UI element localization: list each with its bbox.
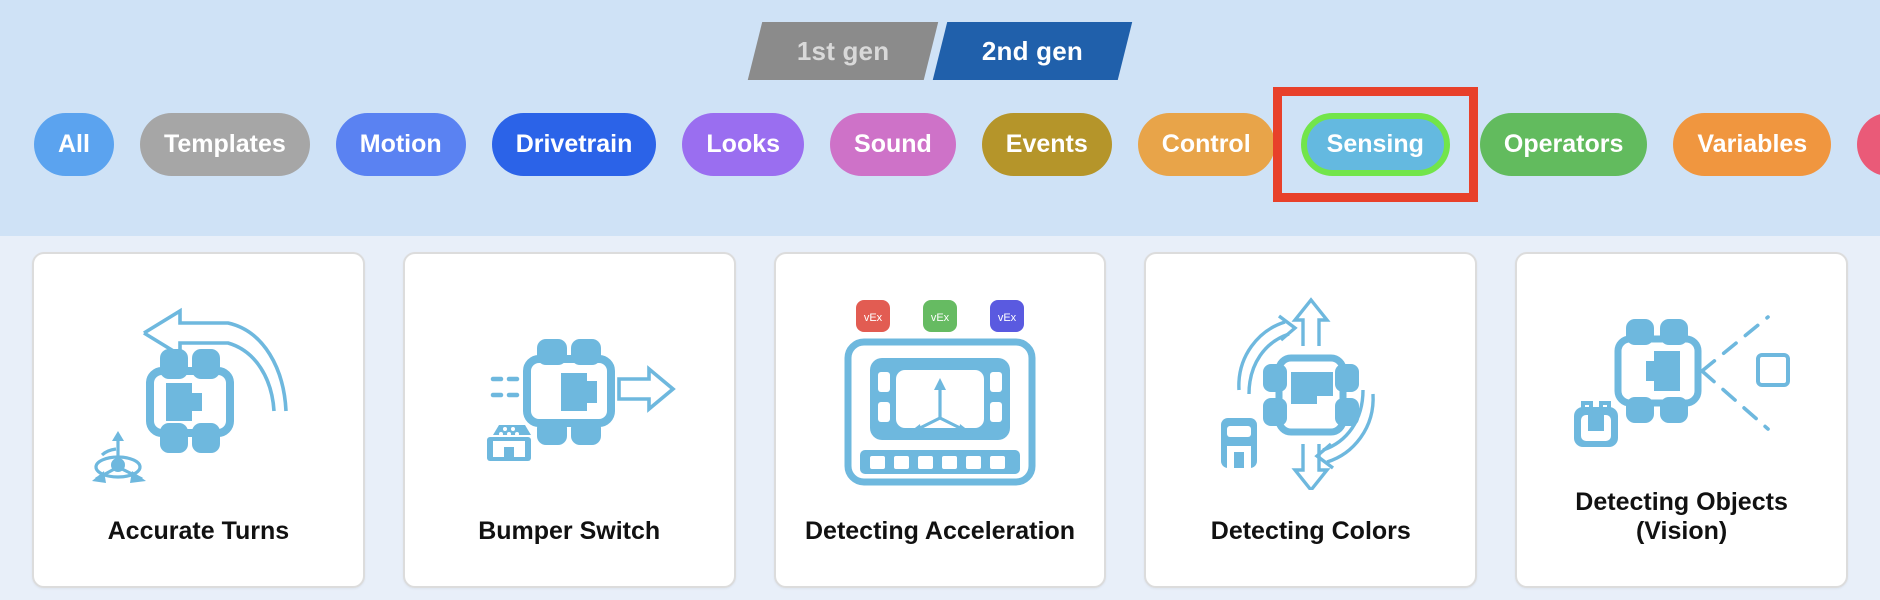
category-pill-all[interactable]: All: [34, 113, 114, 176]
card-title-line1: Detecting Objects: [1575, 488, 1788, 516]
category-wrap-control: Control: [1138, 113, 1275, 176]
category-filter-bar: All Templates Motion Drivetrain Looks: [0, 113, 1880, 176]
card-art-detecting-acceleration: vEx vEx vEx: [776, 260, 1105, 517]
card-art-accurate-turns: [34, 260, 363, 517]
card-title-accurate-turns: Accurate Turns: [98, 517, 300, 586]
tutorial-card-detecting-objects-vision[interactable]: Detecting Objects (Vision): [1515, 252, 1848, 588]
category-pill-templates[interactable]: Templates: [140, 113, 310, 176]
category-pill-looks[interactable]: Looks: [682, 113, 804, 176]
category-pill-operators-label: Operators: [1504, 130, 1623, 159]
category-pill-sensing[interactable]: Sensing: [1301, 113, 1450, 176]
tab-2nd-gen-label: 2nd gen: [982, 36, 1083, 67]
vexcode-tutorial-browser: 1st gen 2nd gen All Templates Motion Dri…: [0, 0, 1880, 600]
category-pill-all-label: All: [58, 130, 90, 159]
category-pill-my-blocks[interactable]: My Blocks: [1857, 113, 1880, 176]
category-wrap-drivetrain: Drivetrain: [492, 113, 657, 176]
category-wrap-my-blocks: My Blocks: [1857, 113, 1880, 176]
category-pill-motion-label: Motion: [360, 130, 442, 159]
category-pill-variables[interactable]: Variables: [1673, 113, 1831, 176]
category-pill-control[interactable]: Control: [1138, 113, 1275, 176]
category-pill-drivetrain-label: Drivetrain: [516, 130, 633, 159]
card-art-detecting-colors: [1146, 260, 1475, 517]
tutorial-card-bumper-switch[interactable]: Bumper Switch: [403, 252, 736, 588]
category-pill-events-label: Events: [1006, 130, 1088, 159]
vex-badge-green: vEx: [923, 300, 957, 332]
tutorial-card-grid: Accurate Turns: [0, 252, 1880, 592]
card-title-line1: Accurate Turns: [108, 517, 290, 545]
robot-bumper-wall-icon: [449, 297, 689, 487]
tab-1st-gen-label: 1st gen: [797, 36, 889, 67]
category-pill-motion[interactable]: Motion: [336, 113, 466, 176]
svg-text:vEx: vEx: [864, 312, 883, 324]
category-pill-operators[interactable]: Operators: [1480, 113, 1647, 176]
robot-vision-cone-icon: [1562, 289, 1802, 465]
card-art-bumper-switch: [405, 260, 734, 517]
category-pill-events[interactable]: Events: [982, 113, 1112, 176]
card-title-line1: Bumper Switch: [478, 517, 660, 545]
vex-badge-blue: vEx: [990, 300, 1024, 332]
category-wrap-sensing: Sensing: [1301, 113, 1450, 176]
card-title-detecting-objects-vision: Detecting Objects (Vision): [1565, 488, 1798, 586]
tab-2nd-gen[interactable]: 2nd gen: [932, 22, 1132, 80]
category-wrap-all: All: [34, 113, 114, 176]
card-title-bumper-switch: Bumper Switch: [468, 517, 670, 586]
category-wrap-templates: Templates: [140, 113, 310, 176]
category-wrap-motion: Motion: [336, 113, 466, 176]
robot-rotate-arrows-icon: [1203, 294, 1418, 490]
card-title-detecting-colors: Detecting Colors: [1201, 517, 1421, 586]
card-art-detecting-objects-vision: [1517, 260, 1846, 488]
tab-1st-gen[interactable]: 1st gen: [748, 22, 939, 80]
category-wrap-operators: Operators: [1480, 113, 1647, 176]
card-title-line1: Detecting Colors: [1211, 517, 1411, 545]
tutorial-card-detecting-colors[interactable]: Detecting Colors: [1144, 252, 1477, 588]
card-title-line2: (Vision): [1575, 517, 1788, 546]
category-wrap-variables: Variables: [1673, 113, 1831, 176]
category-pill-sensing-label: Sensing: [1327, 130, 1424, 159]
svg-text:vEx: vEx: [931, 312, 950, 324]
category-pill-looks-label: Looks: [706, 130, 780, 159]
category-pill-drivetrain[interactable]: Drivetrain: [492, 113, 657, 176]
vex-badge-red: vEx: [856, 300, 890, 332]
category-pill-variables-label: Variables: [1697, 130, 1807, 159]
tutorial-card-accurate-turns[interactable]: Accurate Turns: [32, 252, 365, 588]
robot-turn-arrow-icon: [88, 297, 308, 487]
category-wrap-looks: Looks: [682, 113, 804, 176]
category-pill-sound-label: Sound: [854, 130, 932, 159]
category-pill-templates-label: Templates: [164, 130, 286, 159]
svg-text:vEx: vEx: [998, 312, 1017, 324]
vex-brain-axes-icon: vEx vEx vEx: [830, 294, 1050, 490]
category-wrap-sound: Sound: [830, 113, 956, 176]
generation-tab-bar: 1st gen 2nd gen: [0, 22, 1880, 80]
category-pill-control-label: Control: [1162, 130, 1251, 159]
card-title-detecting-acceleration: Detecting Acceleration: [795, 517, 1085, 586]
tutorial-card-detecting-acceleration[interactable]: vEx vEx vEx: [774, 252, 1107, 588]
category-wrap-events: Events: [982, 113, 1112, 176]
card-title-line1: Detecting Acceleration: [805, 517, 1075, 545]
category-pill-sound[interactable]: Sound: [830, 113, 956, 176]
